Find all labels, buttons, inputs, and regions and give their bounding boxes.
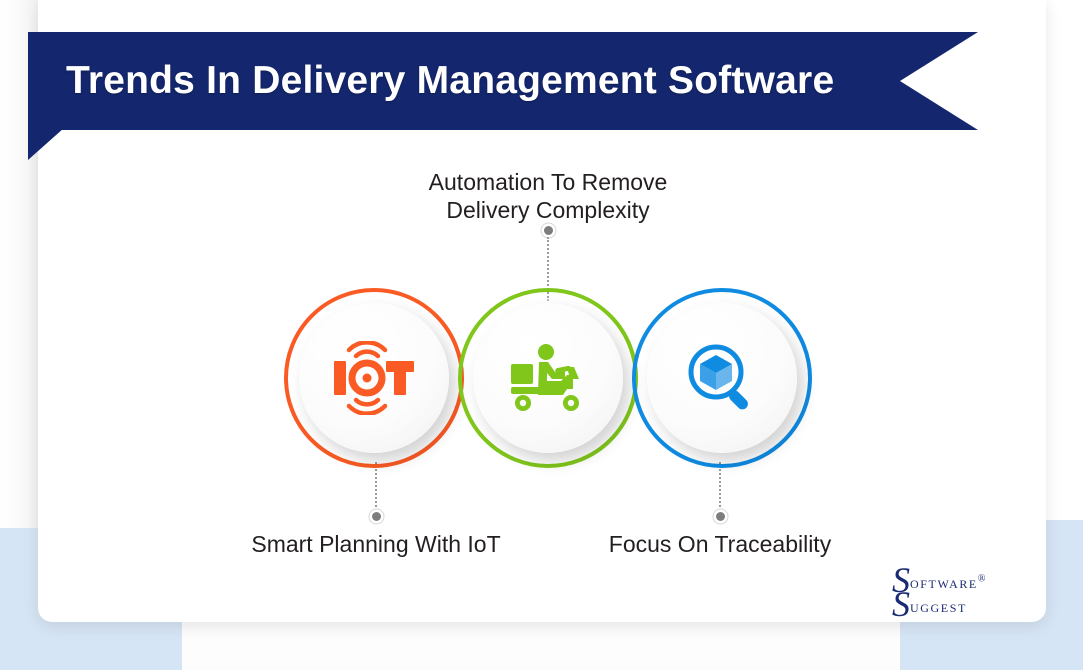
- logo-line-suggest: Suggest: [892, 582, 967, 618]
- page-title: Trends In Delivery Management Software: [66, 32, 834, 130]
- logo-text-uggest: uggest: [910, 597, 967, 616]
- connector-traceability: [715, 462, 725, 528]
- delivery-scooter-icon: [509, 343, 587, 413]
- logo-initial-s2: S: [892, 584, 910, 624]
- node-automation[interactable]: [458, 288, 638, 468]
- iot-signal-icon: [332, 341, 416, 415]
- connector-dot: [372, 512, 381, 521]
- connector-iot: [371, 462, 381, 528]
- package-magnifier-icon: [686, 342, 758, 414]
- node-traceability[interactable]: [632, 288, 812, 468]
- node-iot[interactable]: [284, 288, 464, 468]
- infographic-page: Trends In Delivery Management Software A…: [0, 0, 1083, 670]
- node-disc: [473, 303, 623, 453]
- node-label-automation: Automation To Remove Delivery Complexity: [398, 168, 698, 224]
- registered-icon: ®: [978, 574, 986, 585]
- node-disc: [299, 303, 449, 453]
- ribbon-body: Trends In Delivery Management Software: [28, 32, 978, 130]
- node-label-iot: Smart Planning With IoT: [226, 530, 526, 558]
- softwaresuggest-logo: Software® Suggest: [892, 558, 1032, 616]
- header-ribbon: Trends In Delivery Management Software: [28, 32, 978, 136]
- node-disc: [647, 303, 797, 453]
- connector-line: [375, 462, 377, 514]
- connector-line: [719, 462, 721, 514]
- connector-dot: [716, 512, 725, 521]
- connector-dot: [544, 226, 553, 235]
- node-label-traceability: Focus On Traceability: [572, 530, 868, 558]
- ribbon-chevron-notch: [900, 32, 978, 130]
